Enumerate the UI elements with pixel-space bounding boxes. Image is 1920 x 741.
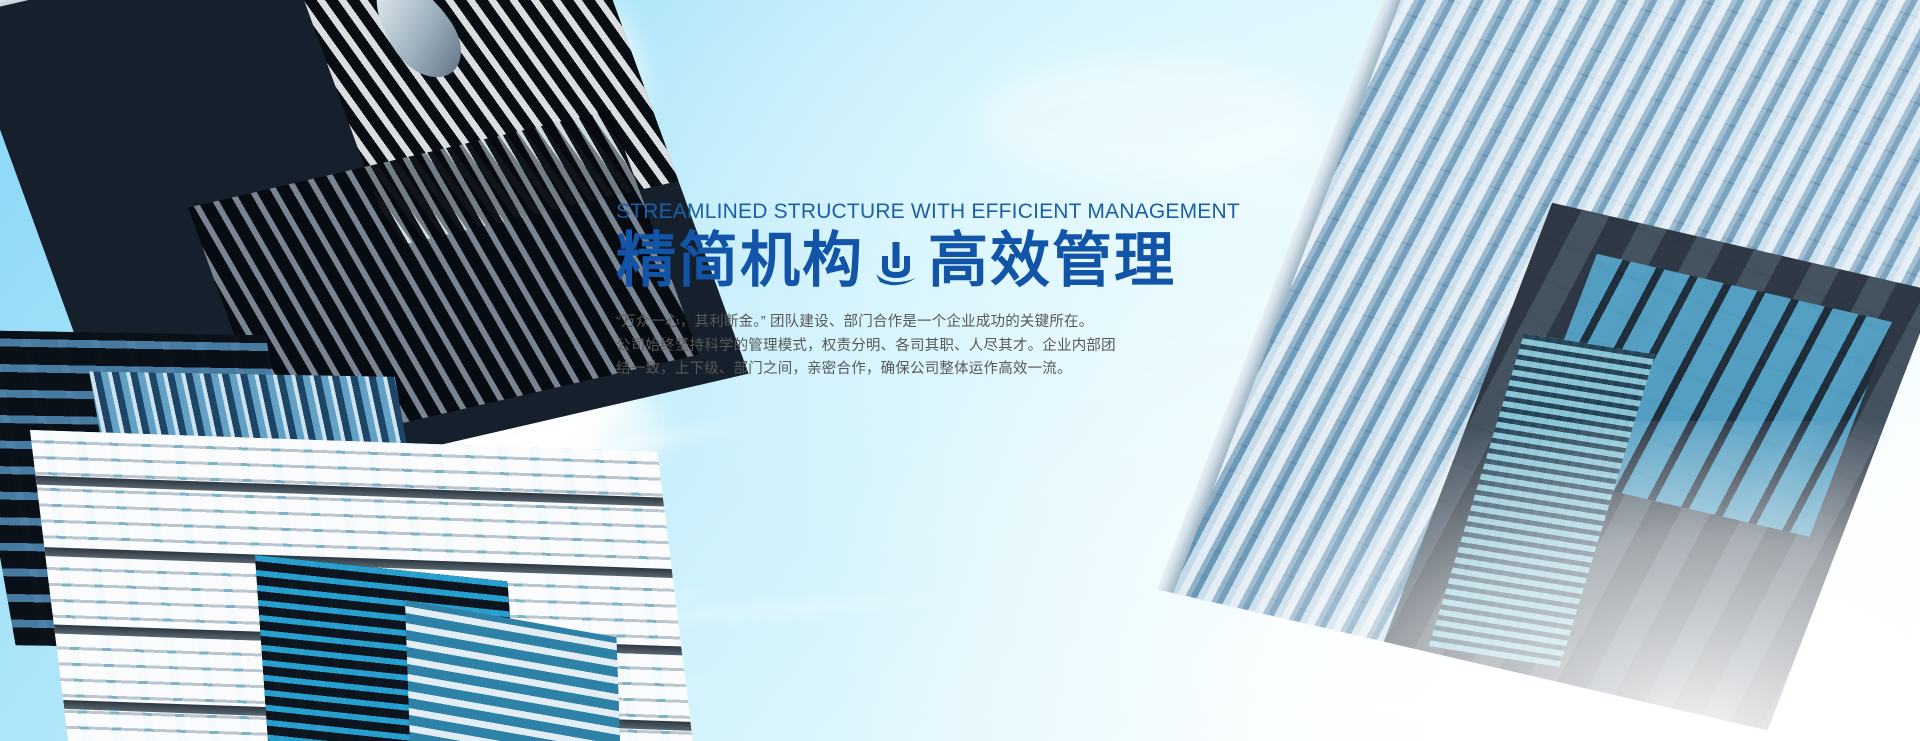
hero-copy-block: STREAMLINED STRUCTURE WITH EFFICIENT MAN… [616,200,1276,382]
hero-body-line: 公司始终坚持科学的管理模式，权责分明、各司其职、人尽其才。企业内部团 [616,335,1276,358]
hero-body-line: 结一致，上下级、部门之间，亲密合作，确保公司整体运作高效一流。 [616,358,1276,381]
cirrus-streak [1250,700,1670,727]
hero-body-copy: “万众一心，其利断金。” 团队建设、部门合作是一个企业成功的关键所在。 公司始终… [616,311,1276,381]
cloud-puff [980,60,1320,180]
hero-eyebrow: STREAMLINED STRUCTURE WITH EFFICIENT MAN… [616,200,1276,223]
hero-headline-left: 精简机构 [616,227,864,295]
hero-body-line: “万众一心，其利断金。” 团队建设、部门合作是一个企业成功的关键所在。 [616,311,1276,334]
hero-headline: 精简机构 高效管理 [616,227,1276,295]
company-emblem-icon [870,238,922,290]
hero-headline-right: 高效管理 [928,227,1176,295]
tower-ledge [36,476,664,507]
hero-banner: STREAMLINED STRUCTURE WITH EFFICIENT MAN… [0,0,1920,741]
